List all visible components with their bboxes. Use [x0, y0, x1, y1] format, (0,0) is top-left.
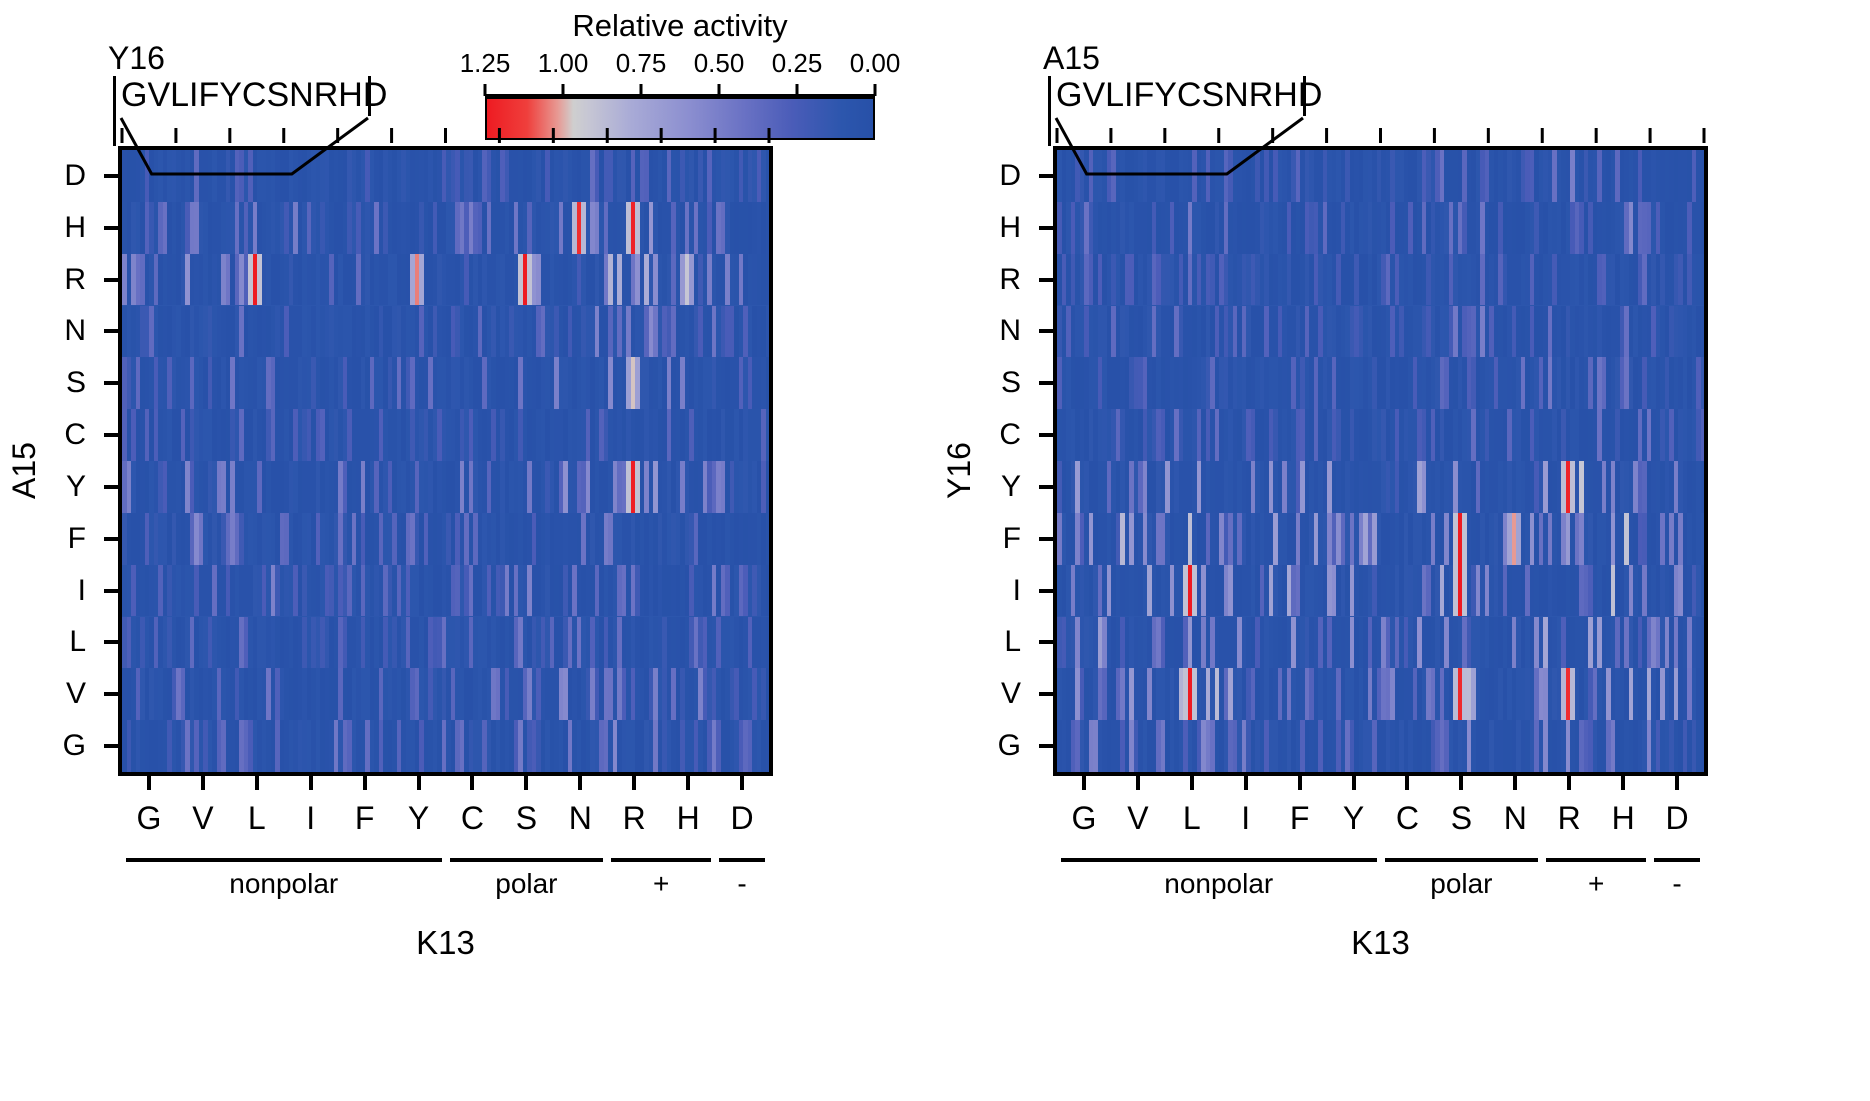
- x-group-label: nonpolar: [1164, 868, 1273, 900]
- x-axis-tick: [1621, 776, 1625, 790]
- y-axis-label: S: [46, 366, 86, 400]
- x-group-line: [1061, 858, 1377, 862]
- x-axis-label: Y: [1331, 800, 1377, 837]
- heatmap-row: [1057, 720, 1704, 772]
- fan-bracket: [113, 116, 968, 176]
- heatmap-cell: [1701, 565, 1706, 617]
- y-axis-label: S: [981, 366, 1021, 400]
- subcolumn-tick-row: [118, 128, 793, 144]
- y-axis-tick: [104, 433, 118, 437]
- y-axis-label: N: [981, 314, 1021, 348]
- heatmap-cell: [766, 409, 771, 461]
- x-axis-tick: [578, 776, 582, 790]
- panel-left: DHRNSCYFILVGA15GVLIFYCSNRHDnonpolarpolar…: [0, 0, 900, 1101]
- heatmap-plot[interactable]: [1053, 146, 1708, 776]
- x-axis-label: I: [1223, 800, 1269, 837]
- x-group-line: [126, 858, 442, 862]
- heatmap-cell: [766, 565, 771, 617]
- x-group-label: polar: [1430, 868, 1492, 900]
- x-axis-title: K13: [1351, 924, 1410, 962]
- y-axis-tick: [1039, 537, 1053, 541]
- y-axis-tick: [1039, 226, 1053, 230]
- x-axis-tick: [1567, 776, 1571, 790]
- y-axis-tick: [104, 744, 118, 748]
- x-axis-label: C: [1384, 800, 1430, 837]
- y-axis-tick: [104, 329, 118, 333]
- x-group-line: [719, 858, 765, 862]
- y-axis-tick: [1039, 278, 1053, 282]
- x-axis-tick: [1513, 776, 1517, 790]
- x-group-line: [1546, 858, 1646, 862]
- heatmap-row: [122, 565, 769, 617]
- y-axis-tick: [1039, 589, 1053, 593]
- y-axis-tick: [104, 537, 118, 541]
- heatmap-row: [1057, 306, 1704, 358]
- x-group-line: [450, 858, 604, 862]
- heatmap-row: [1057, 409, 1704, 461]
- y-axis-label: C: [981, 418, 1021, 452]
- y-axis-label: F: [981, 522, 1021, 556]
- x-group-label: +: [1588, 868, 1604, 900]
- heatmap-plot[interactable]: [118, 146, 773, 776]
- heatmap-cell: [1701, 254, 1706, 306]
- x-axis-label: S: [503, 800, 549, 837]
- x-axis-tick: [686, 776, 690, 790]
- heatmap-row: [122, 461, 769, 513]
- heatmap-row: [1057, 254, 1704, 306]
- x-group-line: [1654, 858, 1700, 862]
- heatmap-row: [1057, 202, 1704, 254]
- fixed-residue-label: Y16: [108, 40, 165, 77]
- y-axis-label: F: [46, 522, 86, 556]
- x-axis-tick: [1298, 776, 1302, 790]
- y-axis-label: L: [46, 625, 86, 659]
- y-axis-label: R: [46, 263, 86, 297]
- heatmap-cell: [766, 513, 771, 565]
- y-axis-tick: [1039, 744, 1053, 748]
- x-axis-tick: [417, 776, 421, 790]
- x-axis-tick: [1459, 776, 1463, 790]
- heatmap-row: [122, 254, 769, 306]
- heatmap-row: [1057, 357, 1704, 409]
- x-group-label: -: [1672, 868, 1681, 900]
- y-axis-label: V: [981, 677, 1021, 711]
- heatmap-row: [122, 202, 769, 254]
- y-axis-tick: [1039, 329, 1053, 333]
- y-axis-label: I: [981, 574, 1021, 608]
- y-axis-label: H: [46, 211, 86, 245]
- fixed-sequence-label: GVLIFYCSNRHD: [121, 76, 387, 115]
- y-axis-label: L: [981, 625, 1021, 659]
- x-axis-tick: [740, 776, 744, 790]
- y-axis-label: D: [981, 159, 1021, 193]
- y-axis-label: G: [46, 729, 86, 763]
- y-axis-label: Y: [46, 470, 86, 504]
- heatmap-row: [1057, 461, 1704, 513]
- heatmap-cell: [766, 357, 771, 409]
- x-axis-label: G: [126, 800, 172, 837]
- y-axis-tick: [1039, 692, 1053, 696]
- heatmap-cell: [766, 461, 771, 513]
- x-axis-label: N: [557, 800, 603, 837]
- heatmap-cell: [766, 254, 771, 306]
- x-axis-label: V: [1115, 800, 1161, 837]
- x-axis-label: H: [665, 800, 711, 837]
- y-axis-title: Y16: [941, 442, 978, 499]
- heatmap-row: [122, 513, 769, 565]
- y-axis-label: N: [46, 314, 86, 348]
- x-axis-tick: [201, 776, 205, 790]
- y-axis-tick: [1039, 640, 1053, 644]
- heatmap-cell: [1701, 202, 1706, 254]
- heatmap-cell: [1701, 617, 1706, 669]
- heatmap-cell: [1701, 357, 1706, 409]
- x-axis-label: N: [1492, 800, 1538, 837]
- y-axis-label: Y: [981, 470, 1021, 504]
- x-group-line: [611, 858, 711, 862]
- y-axis-tick: [1039, 433, 1053, 437]
- x-axis-label: L: [234, 800, 280, 837]
- y-axis-label: V: [46, 677, 86, 711]
- heatmap-cell: [1701, 513, 1706, 565]
- x-axis-tick: [1190, 776, 1194, 790]
- x-axis-tick: [1675, 776, 1679, 790]
- heatmap-row: [122, 720, 769, 772]
- x-axis-tick: [1405, 776, 1409, 790]
- heatmap-row: [1057, 668, 1704, 720]
- x-axis-label: L: [1169, 800, 1215, 837]
- heatmap-row: [1057, 513, 1704, 565]
- heatmap-row: [122, 306, 769, 358]
- y-axis-tick: [104, 278, 118, 282]
- x-axis-tick: [255, 776, 259, 790]
- x-axis-label: R: [1546, 800, 1592, 837]
- y-axis-tick: [104, 226, 118, 230]
- x-group-label: polar: [495, 868, 557, 900]
- fixed-residue-label: A15: [1043, 40, 1100, 77]
- x-axis-label: G: [1061, 800, 1107, 837]
- sequence-bracket-right: [1303, 76, 1306, 116]
- y-axis-tick: [1039, 485, 1053, 489]
- heatmap-row: [122, 617, 769, 669]
- x-axis-tick: [363, 776, 367, 790]
- x-axis-label: R: [611, 800, 657, 837]
- x-axis-tick: [309, 776, 313, 790]
- y-axis-label: I: [46, 574, 86, 608]
- heatmap-row: [122, 668, 769, 720]
- subcolumn-tick-row: [1053, 128, 1728, 144]
- fan-bracket: [1048, 116, 1870, 176]
- x-axis-label: H: [1600, 800, 1646, 837]
- x-axis-label: D: [719, 800, 765, 837]
- x-axis-label: F: [1277, 800, 1323, 837]
- y-axis-tick: [104, 640, 118, 644]
- x-group-label: nonpolar: [229, 868, 338, 900]
- x-group-line: [1385, 858, 1539, 862]
- x-axis-tick: [1136, 776, 1140, 790]
- y-axis-tick: [104, 485, 118, 489]
- heatmap-cell: [766, 720, 771, 772]
- x-axis-tick: [524, 776, 528, 790]
- heatmap-row: [122, 409, 769, 461]
- y-axis-tick: [104, 692, 118, 696]
- y-axis-label: D: [46, 159, 86, 193]
- heatmap-cell: [1701, 668, 1706, 720]
- y-axis-label: G: [981, 729, 1021, 763]
- heatmap-cell: [766, 668, 771, 720]
- x-axis-tick: [632, 776, 636, 790]
- x-axis-tick: [470, 776, 474, 790]
- y-axis-tick: [104, 381, 118, 385]
- heatmap-row: [122, 357, 769, 409]
- x-axis-tick: [1082, 776, 1086, 790]
- heatmap-cell: [766, 202, 771, 254]
- x-axis-label: I: [288, 800, 334, 837]
- heatmap-row: [1057, 565, 1704, 617]
- y-axis-tick: [1039, 381, 1053, 385]
- x-axis-label: D: [1654, 800, 1700, 837]
- x-axis-label: C: [449, 800, 495, 837]
- y-axis-label: C: [46, 418, 86, 452]
- sequence-bracket-left: [1048, 76, 1051, 116]
- heatmap-cell: [766, 617, 771, 669]
- y-axis-label: H: [981, 211, 1021, 245]
- y-axis-title: A15: [6, 442, 43, 499]
- heatmap-cell: [1701, 720, 1706, 772]
- x-axis-label: F: [342, 800, 388, 837]
- x-group-label: -: [737, 868, 746, 900]
- heatmap-cell: [1701, 461, 1706, 513]
- heatmap-cell: [766, 306, 771, 358]
- panel-right: DHRNSCYFILVGY16GVLIFYCSNRHDnonpolarpolar…: [935, 0, 1835, 1101]
- x-group-label: +: [653, 868, 669, 900]
- x-axis-tick: [1244, 776, 1248, 790]
- x-axis-label: V: [180, 800, 226, 837]
- sequence-bracket-left: [113, 76, 116, 116]
- x-axis-label: Y: [396, 800, 442, 837]
- x-axis-tick: [147, 776, 151, 790]
- fixed-sequence-label: GVLIFYCSNRHD: [1056, 76, 1322, 115]
- figure-root: Relative activity 1.251.000.750.500.250.…: [0, 0, 1870, 1101]
- x-axis-label: S: [1438, 800, 1484, 837]
- heatmap-cell: [1701, 306, 1706, 358]
- heatmap-row: [1057, 617, 1704, 669]
- heatmap-cell: [1701, 409, 1706, 461]
- y-axis-label: R: [981, 263, 1021, 297]
- x-axis-tick: [1352, 776, 1356, 790]
- sequence-bracket-right: [368, 76, 371, 116]
- x-axis-title: K13: [416, 924, 475, 962]
- y-axis-tick: [104, 589, 118, 593]
